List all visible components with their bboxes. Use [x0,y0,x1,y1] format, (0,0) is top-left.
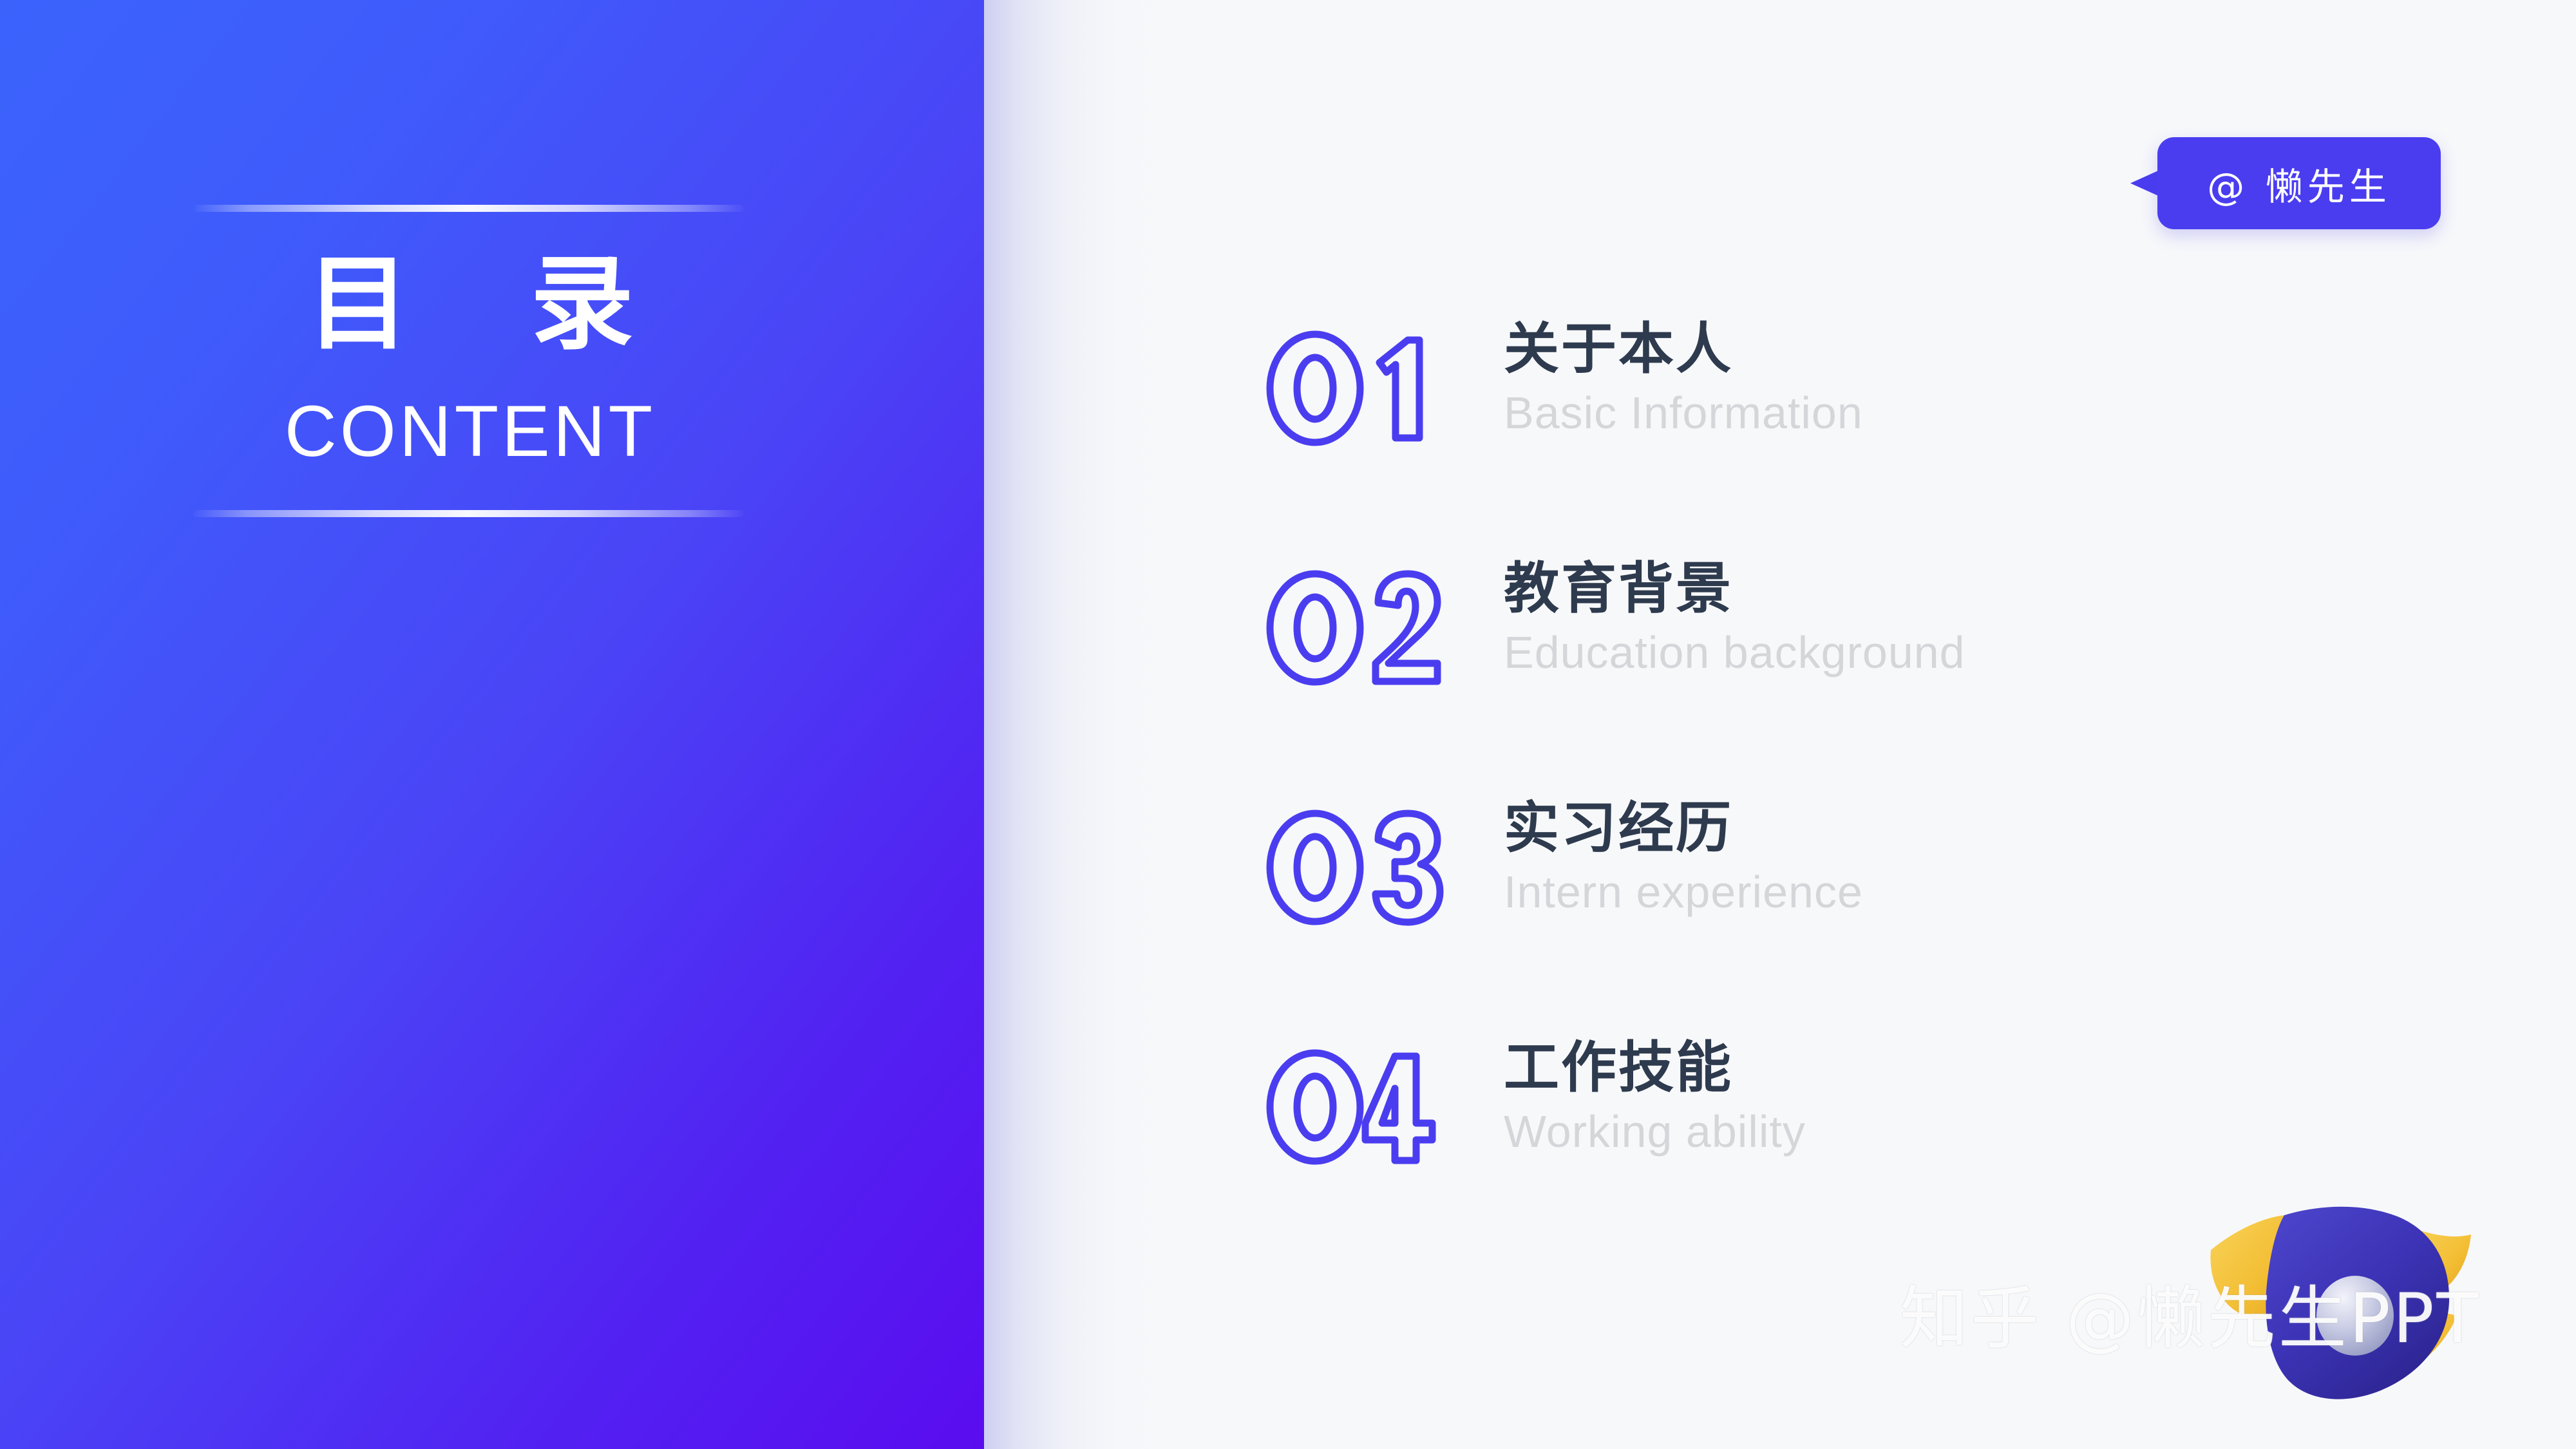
agenda-item-01[interactable]: 关于本人 Basic Information [1262,327,2293,567]
agenda-list: 关于本人 Basic Information 教育背景 Education ba… [1262,327,2293,1285]
agenda-item-04[interactable]: 工作技能 Working ability [1262,1046,2293,1285]
left-title-panel: 目 录 CONTENT [0,0,984,1449]
agenda-number-04-icon [1262,1046,1455,1168]
slide-canvas: 目 录 CONTENT @ 懒先生 关于本人 [0,0,2576,1449]
page-title-cn: 目 录 [193,252,747,355]
agenda-item-03[interactable]: 实习经历 Intern experience [1262,806,2293,1046]
agenda-text-block-04: 工作技能 Working ability [1504,1038,2244,1155]
agenda-subtitle-02: Education background [1504,629,2244,677]
agenda-subtitle-03: Intern experience [1504,869,2244,916]
badge-label: @ 懒先生 [2157,137,2441,229]
watermark-text: 知乎 @懒先生PPT [1900,1285,2481,1353]
agenda-number-02-icon [1262,567,1455,689]
agenda-number-03-icon [1262,806,1455,929]
agenda-text-block-01: 关于本人 Basic Information [1504,319,2244,437]
decorative-rule-bottom [193,510,744,517]
agenda-title-01: 关于本人 [1504,319,2244,379]
agenda-title-03: 实习经历 [1504,799,2244,858]
agenda-item-02[interactable]: 教育背景 Education background [1262,567,2293,806]
agenda-subtitle-04: Working ability [1504,1108,2244,1156]
agenda-text-block-02: 教育背景 Education background [1504,559,2244,676]
agenda-text-block-03: 实习经历 Intern experience [1504,799,2244,916]
agenda-title-02: 教育背景 [1504,559,2244,619]
page-title-en: CONTENT [193,392,747,471]
decorative-rule-top [193,205,744,212]
agenda-number-01-icon [1262,327,1455,450]
agenda-title-04: 工作技能 [1504,1038,2244,1098]
agenda-subtitle-01: Basic Information [1504,390,2244,437]
author-handle-badge[interactable]: @ 懒先生 [2125,137,2441,229]
